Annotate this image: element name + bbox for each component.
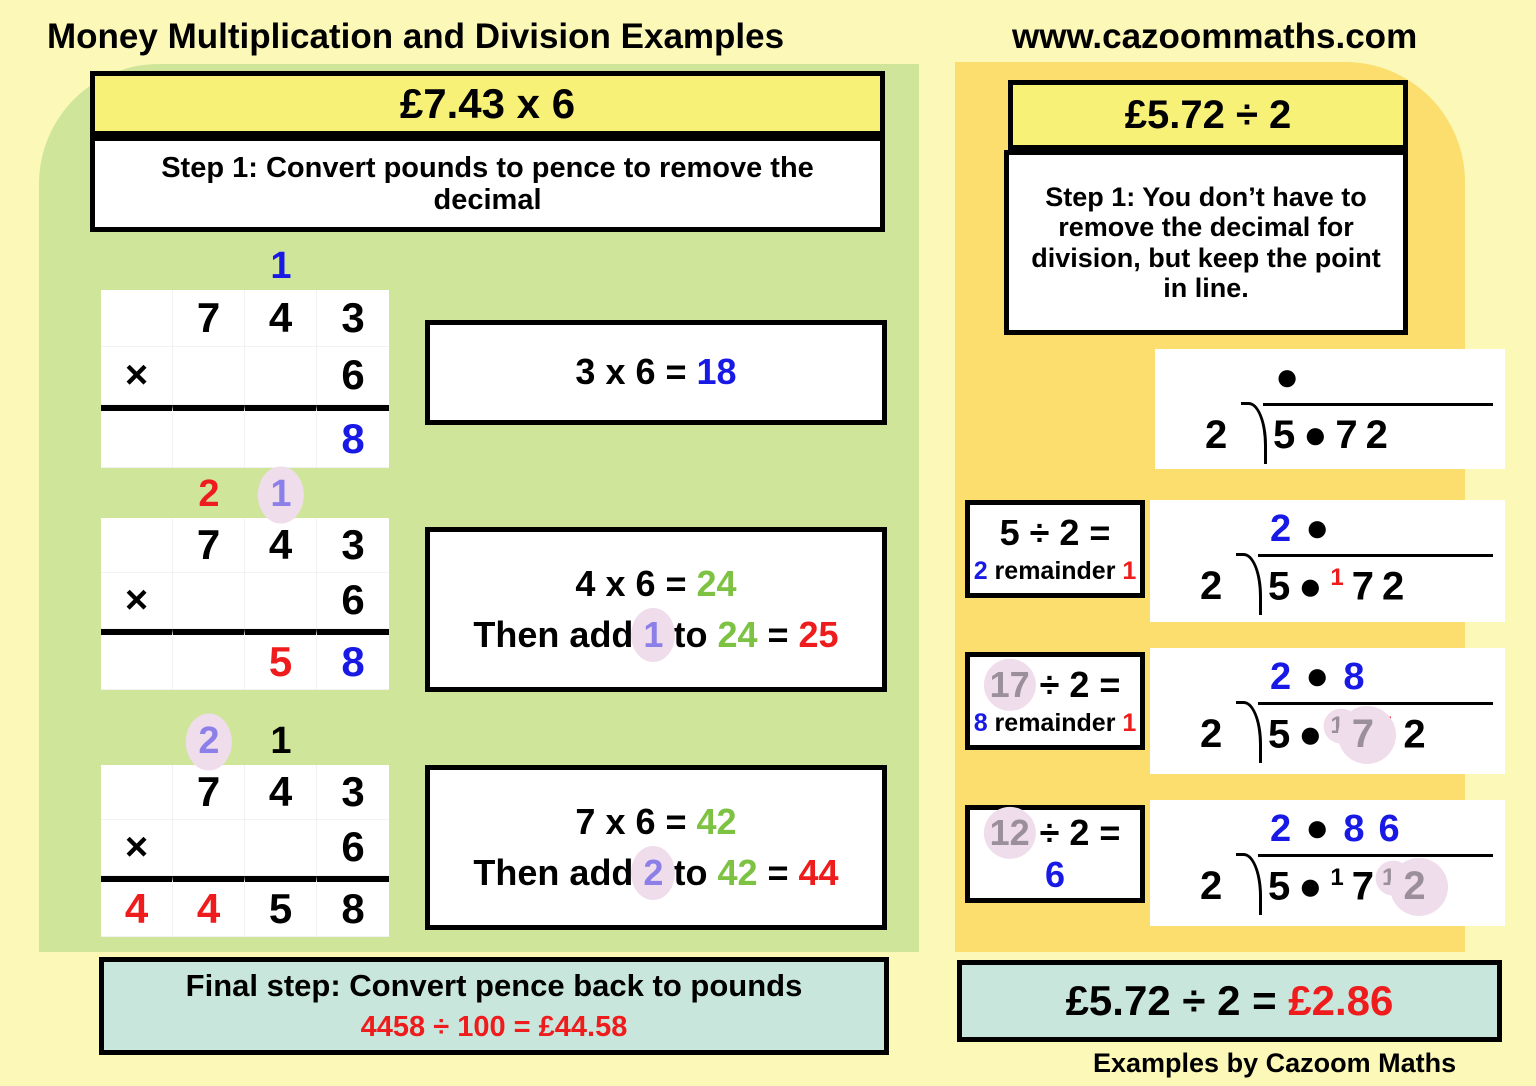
carry-digit: 1 [245, 245, 317, 288]
explanation-line-1: 4 x 6 = 24 [575, 564, 736, 604]
text-run: 24 [697, 563, 737, 604]
text-run: 2 [1270, 656, 1305, 698]
remainder-line-2: 2 remainder 1 [974, 557, 1137, 585]
text-run: 6 [1045, 854, 1065, 895]
text-run: 17 [990, 665, 1030, 705]
long-division-diagram: 2●25●172 [1150, 500, 1505, 622]
credit-label: Examples by Cazoom Maths [1093, 1048, 1456, 1079]
multiplication-footer-line2: 4458 ÷ 100 = £44.58 [361, 1011, 628, 1043]
carry-digit: 1 [245, 720, 317, 763]
divisor: 2 [1200, 564, 1222, 609]
grid-cell [173, 573, 245, 628]
long-division-diagram: 2●8625●1712 [1150, 800, 1505, 926]
carry-digit: 2 [173, 720, 245, 763]
text-run: 1 [1330, 564, 1351, 591]
dividend: 5●1712 [1268, 712, 1434, 757]
text-run: 18 [697, 351, 737, 392]
multiplication-step1: Step 1: Convert pounds to pence to remov… [90, 136, 885, 232]
grid-cell: 3 [317, 518, 389, 573]
text-run: 2 [1366, 413, 1396, 457]
grid-cell [101, 405, 173, 468]
website-label: www.cazoommaths.com [1012, 17, 1417, 57]
divisor: 2 [1200, 864, 1222, 909]
text-run: 8 [1343, 808, 1378, 850]
grid-cell: 4 [245, 765, 317, 820]
grid-cell [101, 290, 173, 347]
division-bracket-icon [1241, 402, 1267, 464]
multiplication-grid-3: 743×64458 [101, 765, 389, 937]
text-run: 1 [1122, 557, 1136, 585]
remainder-line-1: 5 ÷ 2 = [1000, 513, 1111, 553]
multiplication-header: £7.43 x 6 [90, 71, 885, 136]
text-run: 1 [1122, 709, 1136, 737]
explanation-line-2: Then add 1 to 24 = 25 [473, 615, 838, 655]
grid-cell: 4 [173, 876, 245, 937]
grid-cell [245, 573, 317, 628]
long-division-diagram: ●25●72 [1155, 349, 1505, 469]
text-run: ● [1298, 864, 1330, 908]
text-run: 7 [1352, 564, 1382, 608]
text-run: 8 [974, 709, 988, 737]
page-title: Money Multiplication and Division Exampl… [47, 17, 784, 57]
explanation-line-1: 3 x 6 = 18 [575, 352, 736, 392]
division-header: £5.72 ÷ 2 [1008, 80, 1408, 150]
grid-cell: 8 [317, 405, 389, 468]
text-run: = [757, 614, 798, 655]
text-run: 2 [1403, 712, 1433, 756]
text-run: 7 [1335, 413, 1365, 457]
long-division-diagram: 2●825●1712 [1150, 648, 1505, 774]
division-vinculum [1258, 854, 1493, 857]
grid-cell [101, 765, 173, 820]
division-step1: Step 1: You don’t have to remove the dec… [1004, 150, 1408, 335]
explanation-line-2: Then add 2 to 42 = 44 [473, 853, 838, 893]
divisor: 2 [1200, 712, 1222, 757]
text-run: = [757, 852, 798, 893]
remainder-line-2: 6 [1045, 855, 1065, 895]
multiplication-explanation-3: 7 x 6 = 42Then add 2 to 42 = 44 [425, 765, 887, 930]
remainder-line-2: 8 remainder 1 [974, 709, 1137, 737]
text-run: ÷ 2 = [1030, 812, 1121, 853]
text-run: ● [1305, 654, 1343, 698]
multiplication-grid-2: 743×658 [101, 518, 389, 690]
text-run: ● [1305, 806, 1343, 850]
text-run: 25 [799, 614, 839, 655]
grid-cell: 6 [317, 820, 389, 875]
text-run: ● [1305, 506, 1343, 550]
text-run: 1 [643, 615, 663, 655]
carry-digit: 1 [245, 473, 317, 516]
grid-cell [245, 347, 317, 404]
grid-cell [101, 518, 173, 573]
multiplication-explanation-2: 4 x 6 = 24Then add 1 to 24 = 25 [425, 527, 887, 692]
text-run: 2 [1403, 864, 1433, 909]
dividend: 5●72 [1273, 413, 1396, 458]
grid-cell [245, 405, 317, 468]
text-run: £2.86 [1288, 977, 1393, 1024]
remainder-line-1: 17 ÷ 2 = [990, 665, 1121, 705]
grid-cell: 7 [173, 765, 245, 820]
text-run: 5 ÷ 2 = [1000, 512, 1111, 553]
grid-cell [173, 629, 245, 690]
grid-cell: 6 [317, 347, 389, 404]
text-run: 5 [1273, 413, 1303, 457]
text-run: 6 [1378, 808, 1413, 850]
text-run: 5 [1268, 712, 1298, 756]
carry-digit: 2 [173, 473, 245, 516]
division-remainder-box: 12 ÷ 2 =6 [965, 805, 1145, 903]
text-run: 2 [974, 557, 988, 585]
dividend: 5●172 [1268, 564, 1412, 609]
division-vinculum [1258, 554, 1493, 557]
explanation-line-1: 7 x 6 = 42 [575, 802, 736, 842]
multiplication-footer: Final step: Convert pence back to pounds… [99, 957, 889, 1055]
text-run: ● [1303, 413, 1335, 457]
grid-cell: × [101, 347, 173, 404]
text-run: £5.72 ÷ 2 = [1066, 977, 1289, 1024]
grid-cell: × [101, 820, 173, 875]
division-vinculum [1263, 403, 1493, 406]
grid-cell [173, 405, 245, 468]
text-run: 42 [717, 852, 757, 893]
text-run: 1 [1330, 864, 1351, 891]
grid-cell [173, 820, 245, 875]
grid-cell [173, 347, 245, 404]
text-run: Then add [473, 852, 643, 893]
division-footer: £5.72 ÷ 2 = £2.86 [957, 960, 1502, 1042]
text-run: 5 [1268, 564, 1298, 608]
grid-cell: 4 [245, 518, 317, 573]
grid-cell: 7 [173, 290, 245, 347]
grid-cell: 3 [317, 290, 389, 347]
grid-cell: 5 [245, 629, 317, 690]
division-bracket-icon [1236, 553, 1262, 615]
multiplication-footer-line1: Final step: Convert pence back to pounds [186, 969, 803, 1004]
multiplication-grid-1: 743×68 [101, 290, 389, 468]
text-run: 7 x 6 = [575, 801, 696, 842]
grid-cell: 4 [245, 290, 317, 347]
grid-cell [245, 820, 317, 875]
grid-cell: × [101, 573, 173, 628]
text-run: remainder [988, 557, 1123, 585]
grid-cell: 4 [101, 876, 173, 937]
grid-cell: 5 [245, 876, 317, 937]
text-run: 2 [1270, 808, 1305, 850]
text-run: 5 [1268, 864, 1298, 908]
text-run: 3 x 6 = [575, 351, 696, 392]
text-run: 2 [643, 853, 663, 893]
division-footer-text: £5.72 ÷ 2 = £2.86 [1066, 977, 1394, 1024]
grid-cell: 8 [317, 629, 389, 690]
worksheet-page: Money Multiplication and Division Exampl… [0, 0, 1536, 1086]
quotient: ● [1275, 357, 1313, 400]
text-run: ÷ 2 = [1030, 664, 1121, 705]
grid-cell: 7 [173, 518, 245, 573]
quotient: 2●86 [1270, 808, 1414, 851]
grid-cell [101, 629, 173, 690]
multiplication-explanation-1: 3 x 6 = 18 [425, 320, 887, 425]
remainder-line-1: 12 ÷ 2 = [990, 813, 1121, 853]
text-run: 44 [799, 852, 839, 893]
text-run: remainder [988, 709, 1123, 737]
text-run: 12 [990, 813, 1030, 853]
division-remainder-box: 5 ÷ 2 =2 remainder 1 [965, 500, 1145, 598]
division-remainder-box: 17 ÷ 2 =8 remainder 1 [965, 652, 1145, 750]
text-run: 4 x 6 = [575, 563, 696, 604]
divisor: 2 [1205, 413, 1227, 458]
grid-cell: 3 [317, 765, 389, 820]
division-bracket-icon [1236, 701, 1262, 763]
text-run: Then add [473, 614, 643, 655]
division-bracket-icon [1236, 853, 1262, 915]
grid-cell: 6 [317, 573, 389, 628]
text-run: 24 [717, 614, 757, 655]
text-run: 2 [1382, 564, 1412, 608]
text-run: 42 [697, 801, 737, 842]
quotient: 2●8 [1270, 656, 1378, 699]
text-run: ● [1298, 564, 1330, 608]
text-run: 7 [1352, 712, 1382, 757]
grid-cell: 8 [317, 876, 389, 937]
dividend: 5●1712 [1268, 864, 1434, 909]
text-run: 8 [1343, 656, 1378, 698]
text-run: ● [1275, 355, 1313, 399]
text-run: 2 [1270, 508, 1305, 550]
quotient: 2● [1270, 508, 1343, 551]
division-vinculum [1258, 702, 1493, 705]
